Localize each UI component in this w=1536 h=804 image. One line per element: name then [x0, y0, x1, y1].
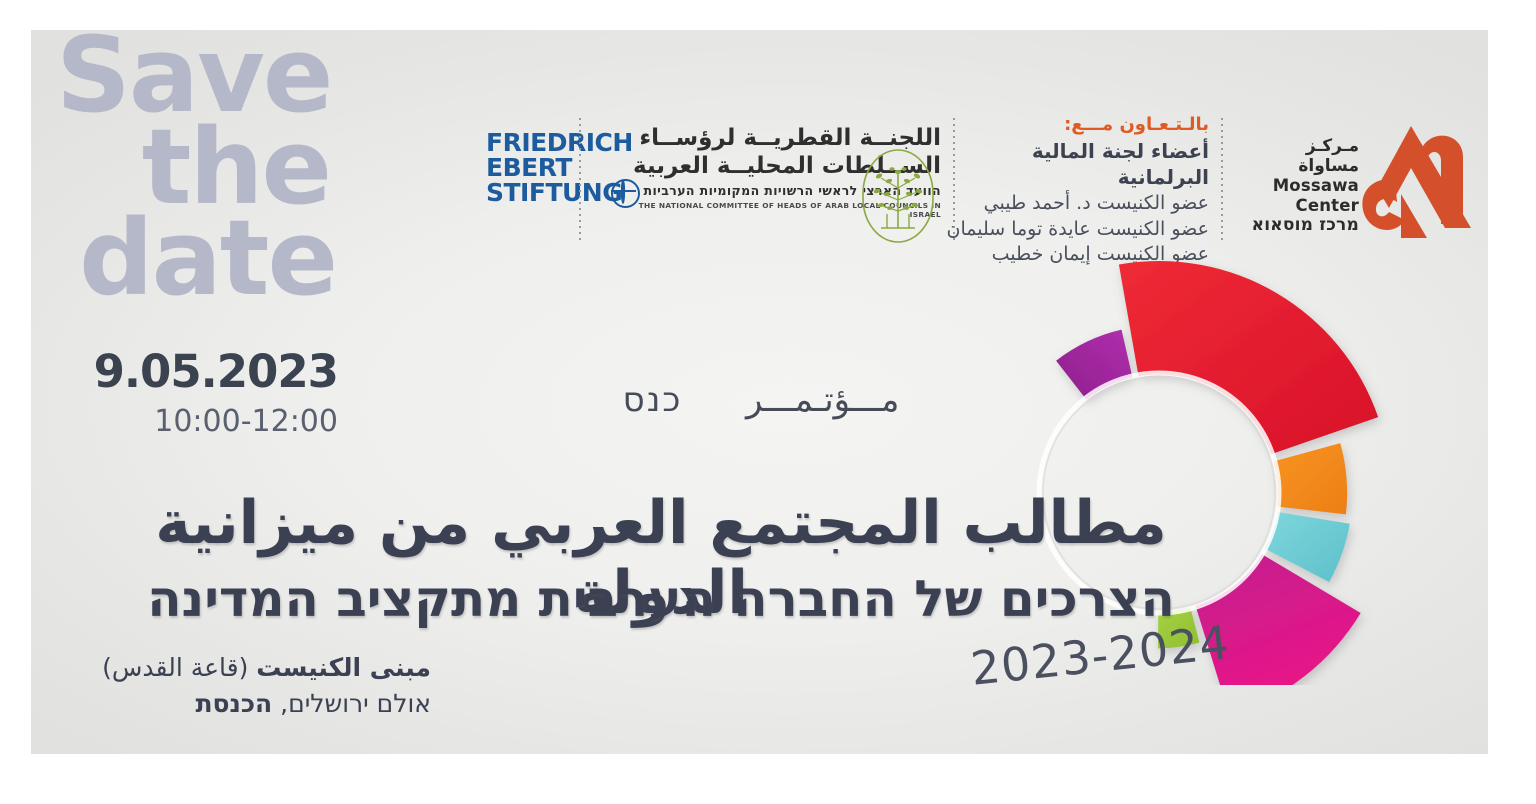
mossawa-wordmark: مـركـز مساواة Mossawa Center מרכז מוסאוא: [1241, 136, 1359, 235]
tree-icon: [861, 148, 935, 244]
mossawa-mark-icon: [1349, 120, 1474, 240]
save-the-date-line-3: date: [48, 213, 338, 305]
event-date: 9.05.2023: [48, 345, 338, 398]
headline-hebrew: הצרכים של החברה הערבית מתקציב המדינה: [66, 570, 1256, 628]
venue-hebrew-rest: אולם ירושלים,: [272, 689, 431, 718]
logo-divider-3: [1221, 118, 1223, 240]
venue-arabic-rest: (قاعة القدس): [102, 653, 256, 682]
venue-hebrew: אולם ירושלים, הכנסת: [51, 686, 431, 722]
event-time: 10:00-12:00: [48, 404, 338, 439]
collaboration-subhead: أعضاء لجنة المالية البرلمانية: [939, 139, 1209, 190]
venue-block: مبنى الكنيست (قاعة القدس) אולם ירושלים, …: [51, 650, 431, 723]
venue-hebrew-bold: הכנסת: [195, 689, 272, 718]
collaboration-member-1: عضو الكنيست د. أحمد طيبي: [939, 191, 1209, 216]
fes-line-1: FRIEDRICH: [486, 130, 636, 155]
kicker-hebrew: כנס: [623, 380, 683, 420]
friedrich-ebert-stiftung-logo: FRIEDRICH EBERT STIFTUNG: [486, 130, 636, 205]
mossawa-english: Mossawa Center: [1241, 176, 1359, 215]
save-the-date-headline: Save the date: [48, 30, 338, 305]
kicker-arabic: مـــؤتـمـــر: [746, 380, 899, 420]
venue-arabic: مبنى الكنيست (قاعة القدس): [51, 650, 431, 686]
mossawa-arabic: مـركـز مساواة: [1241, 136, 1359, 176]
logo-divider-1: [579, 118, 581, 240]
fes-line-2: EBERT: [486, 155, 636, 180]
venue-arabic-bold: مبنى الكنيست: [256, 653, 431, 682]
conference-kicker: مـــؤتـمـــر כנס: [591, 380, 931, 420]
collaboration-heading: بالـتـعـاون مـــع:: [939, 114, 1209, 135]
poster-canvas: Save the date 9.05.2023 10:00-12:00 FRIE…: [31, 30, 1488, 754]
fes-line-2-label: EBERT: [486, 153, 572, 182]
